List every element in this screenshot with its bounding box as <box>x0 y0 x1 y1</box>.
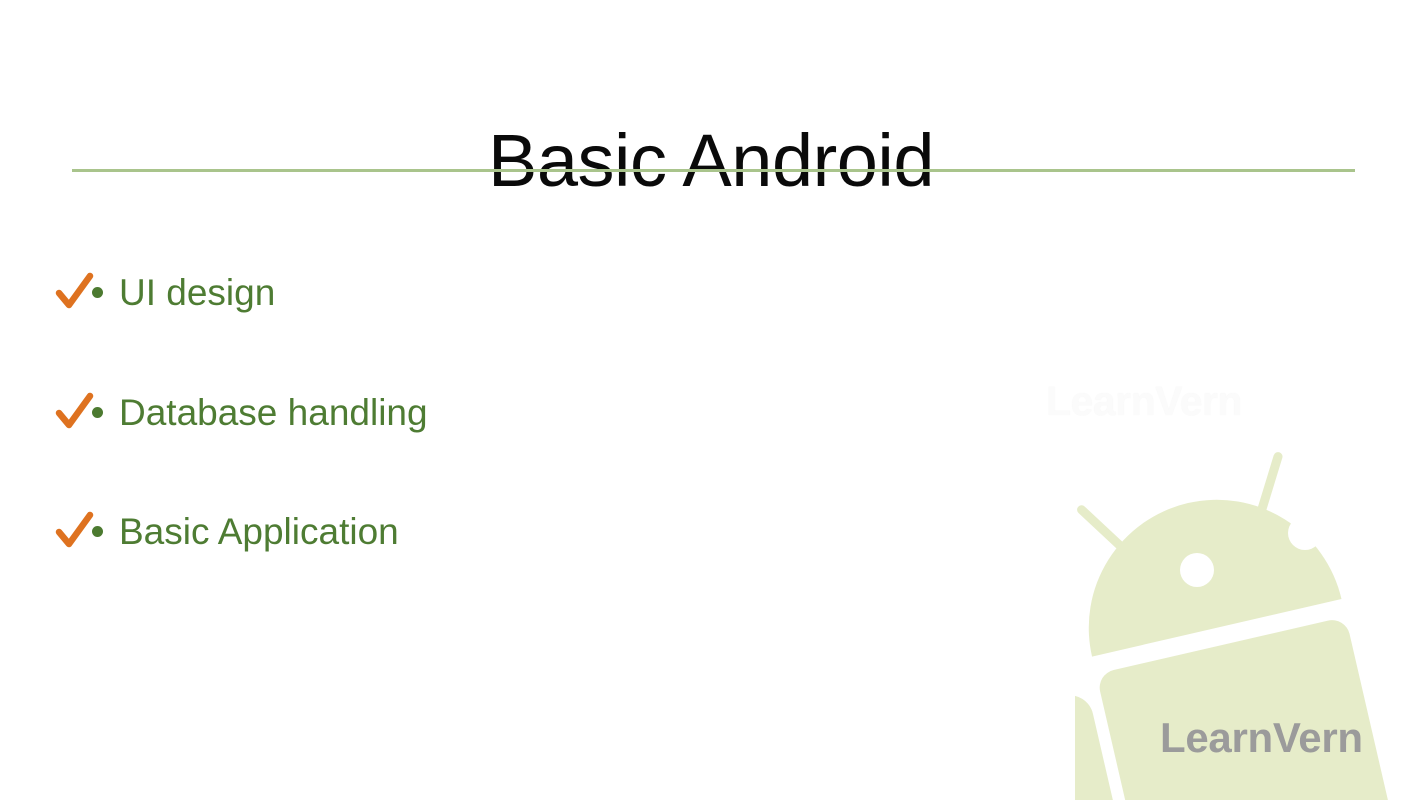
list-item-label: Basic Application <box>119 513 399 550</box>
orange-check-icon <box>54 272 94 312</box>
list-item: Database handling <box>54 388 428 436</box>
slide-content: Basic Android UI design Database handlin… <box>0 0 1422 800</box>
title-divider <box>72 169 1355 172</box>
list-item-label: UI design <box>119 274 275 311</box>
list-item-label: Database handling <box>119 394 428 431</box>
orange-check-icon <box>54 392 94 432</box>
list-item: UI design <box>54 268 275 316</box>
orange-check-icon <box>54 511 94 551</box>
list-item: Basic Application <box>54 507 399 555</box>
green-dot-icon <box>92 526 103 537</box>
page-title: Basic Android <box>0 122 1422 200</box>
presentation-slide: LearnVern LearnVern Basic Android <box>0 0 1422 800</box>
green-dot-icon <box>92 287 103 298</box>
green-dot-icon <box>92 407 103 418</box>
